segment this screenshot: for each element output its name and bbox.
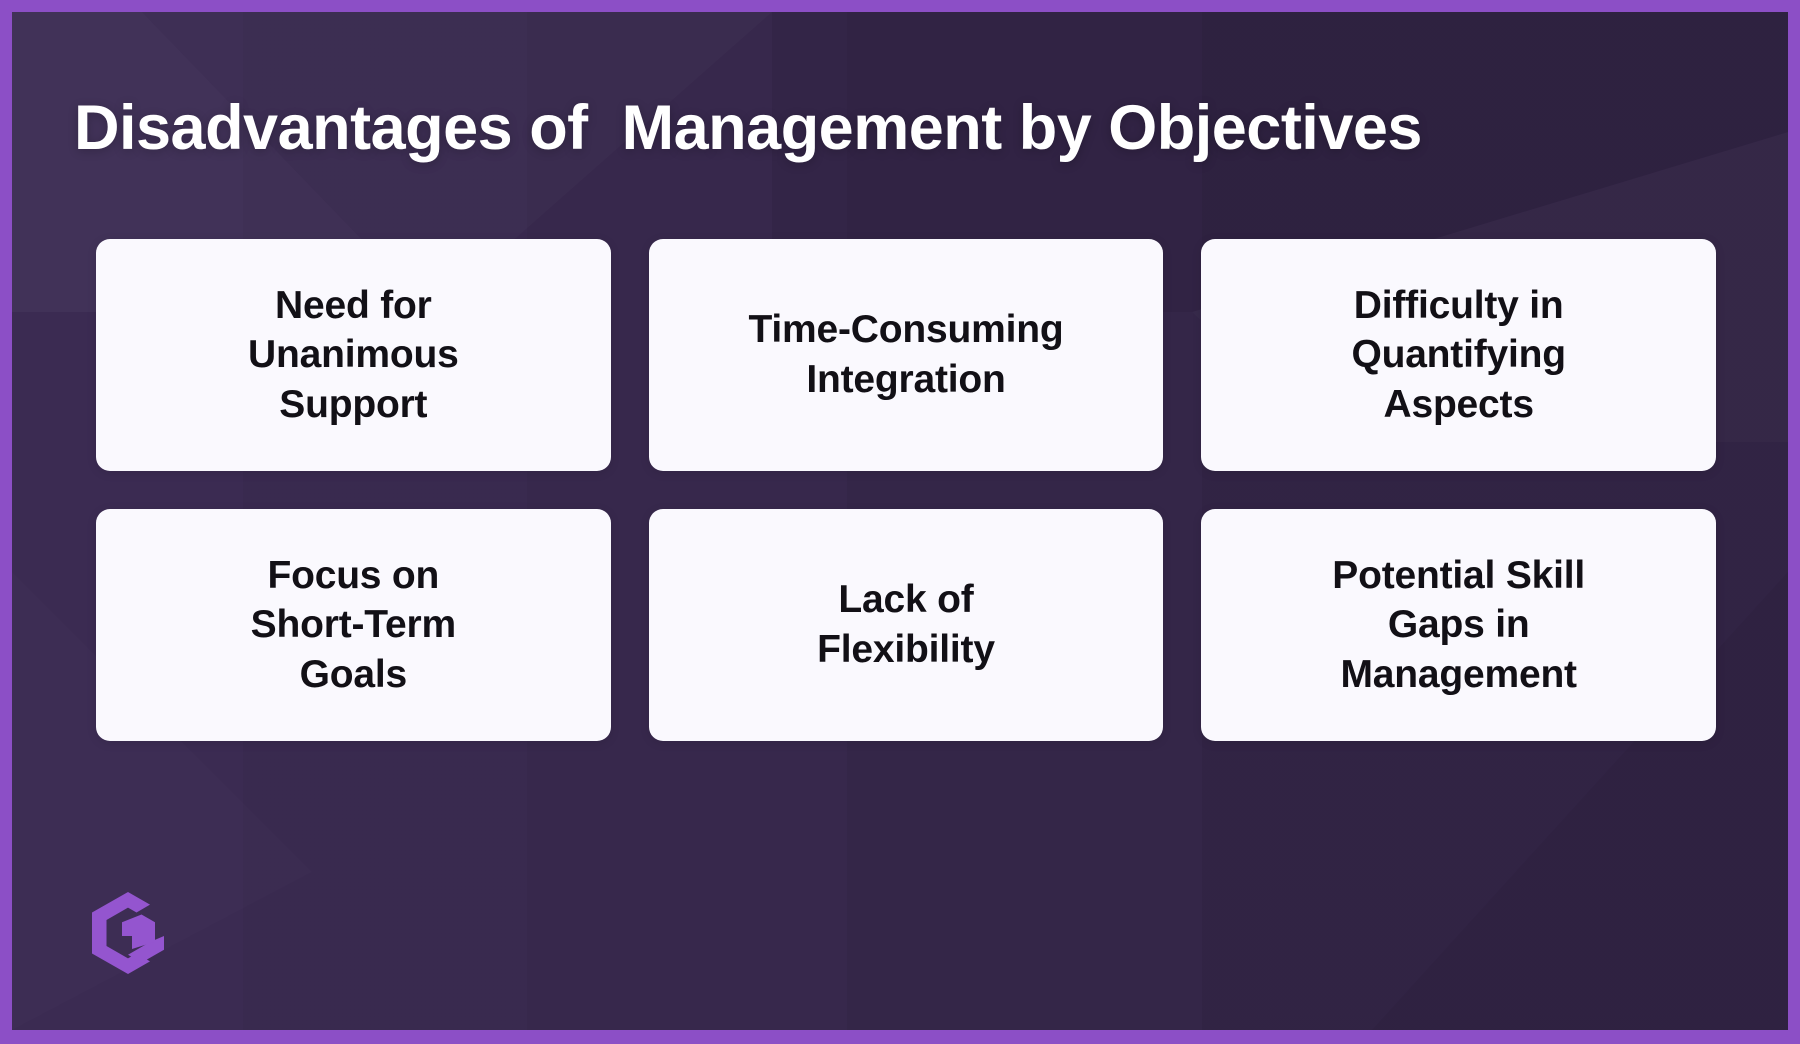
page-title: Disadvantages of Management by Objective… (74, 94, 1734, 162)
card-lack-of-flexibility[interactable]: Lack of Flexibility (649, 509, 1164, 741)
card-time-consuming-integration[interactable]: Time-Consuming Integration (649, 239, 1164, 471)
card-label: Time-Consuming Integration (748, 305, 1063, 404)
card-difficulty-in-quantifying-aspects[interactable]: Difficulty in Quantifying Aspects (1201, 239, 1716, 471)
hexagon-b-logo-icon (92, 892, 164, 974)
card-label: Focus on Short-Term Goals (251, 551, 456, 700)
card-label: Difficulty in Quantifying Aspects (1351, 281, 1565, 430)
card-need-for-unanimous-support[interactable]: Need for Unanimous Support (96, 239, 611, 471)
disadvantages-card-grid: Need for Unanimous Support Time-Consumin… (96, 239, 1716, 741)
card-label: Need for Unanimous Support (248, 281, 459, 430)
slide-canvas: Disadvantages of Management by Objective… (12, 12, 1788, 1030)
card-label: Potential Skill Gaps in Management (1332, 551, 1585, 700)
card-label: Lack of Flexibility (817, 575, 995, 674)
card-focus-on-short-term-goals[interactable]: Focus on Short-Term Goals (96, 509, 611, 741)
card-potential-skill-gaps-in-management[interactable]: Potential Skill Gaps in Management (1201, 509, 1716, 741)
slide-frame: Disadvantages of Management by Objective… (0, 0, 1800, 1044)
